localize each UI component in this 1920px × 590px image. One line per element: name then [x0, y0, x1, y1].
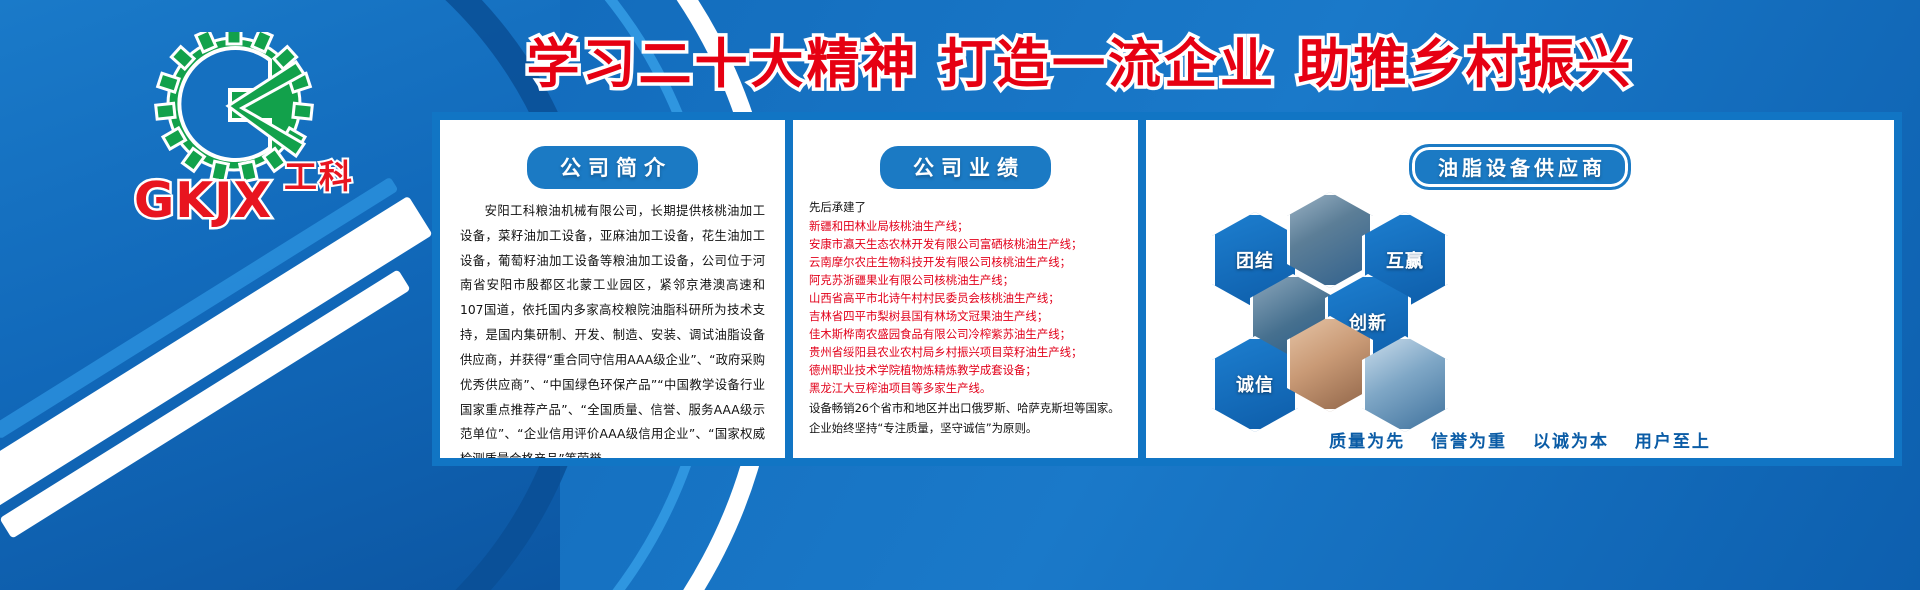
hex-label-2: 互赢 [1386, 247, 1424, 273]
panel-company-intro: 公司简介 安阳工科粮油机械有限公司，长期提供核桃油加工设备，菜籽油加工设备，亚麻… [440, 120, 785, 458]
slogan-part-3: 用户至上 [1635, 432, 1711, 452]
logo-chinese-name: 工科 [284, 150, 354, 198]
hexagon-cluster: 团结 互赢 创新 诚信 [1162, 198, 1878, 433]
panel2-heading: 公司业绩 [880, 146, 1051, 189]
project-item: 新疆和田林业局核桃油生产线； [809, 217, 1122, 235]
project-item: 阿克苏浙疆果业有限公司核桃油生产线； [809, 271, 1122, 289]
hex-label-5: 诚信 [1236, 371, 1274, 397]
panels-container: 公司简介 安阳工科粮油机械有限公司，长期提供核桃油加工设备，菜籽油加工设备，亚麻… [432, 112, 1902, 466]
slogan-part-2: 以诚为本 [1533, 432, 1609, 452]
project-item: 安康市瀛天生态农林开发有限公司富硒核桃油生产线； [809, 235, 1122, 253]
project-item: 佳木斯桦南农盛园食品有限公司冷榨紫苏油生产线； [809, 325, 1122, 343]
panel-company-achievements: 公司业绩 先后承建了 新疆和田林业局核桃油生产线；安康市瀛天生态农林开发有限公司… [793, 120, 1138, 458]
project-item: 吉林省四平市梨树县国有林场文冠果油生产线； [809, 307, 1122, 325]
panel2-footer-1: 设备畅销26个省市和地区并出口俄罗斯、哈萨克斯坦等国家。 [809, 399, 1122, 417]
panel2-footer-2: 企业始终坚持“专注质量，坚守诚信”为原则。 [809, 419, 1122, 437]
slogan-part-1: 信誉为重 [1431, 432, 1507, 452]
project-item: 山西省高平市北诗午村村民委员会核桃油生产线； [809, 289, 1122, 307]
project-item: 黑龙江大豆榨油项目等多家生产线。 [809, 379, 1122, 397]
hex-factory-photo-icon [1287, 192, 1373, 288]
hex-label-0: 团结 [1236, 247, 1274, 273]
panel-supplier: 油脂设备供应商 团结 互赢 创新 诚信 [1146, 120, 1894, 458]
project-item: 贵州省绥阳县农业农村局乡村振兴项目菜籽油生产线； [809, 343, 1122, 361]
project-item: 云南摩尔农庄生物科技开发有限公司核桃油生产线； [809, 253, 1122, 271]
company-logo: 工科 GKJX [118, 32, 348, 212]
slogan-part-0: 质量为先 [1329, 432, 1405, 452]
page-title: 学习二十大精神 打造一流企业 助推乡村振兴 [430, 22, 1730, 98]
panel3-slogan: 质量为先 信誉为重 以诚为本 用户至上 [1146, 427, 1894, 452]
logo-english-name: GKJX [134, 172, 272, 229]
panel1-body: 安阳工科粮油机械有限公司，长期提供核桃油加工设备，菜籽油加工设备，亚麻油加工设备… [456, 199, 769, 458]
panel3-heading: 油脂设备供应商 [1409, 144, 1631, 190]
panel1-heading: 公司简介 [527, 146, 698, 189]
panel2-intro: 先后承建了 [809, 199, 1122, 217]
panel2-project-list: 新疆和田林业局核桃油生产线；安康市瀛天生态农林开发有限公司富硒核桃油生产线；云南… [809, 217, 1122, 397]
promotional-banner: 工科 GKJX 学习二十大精神 打造一流企业 助推乡村振兴 公司简介 安阳工科粮… [0, 0, 1920, 590]
project-item: 德州职业技术学院植物炼精炼教学成套设备； [809, 361, 1122, 379]
